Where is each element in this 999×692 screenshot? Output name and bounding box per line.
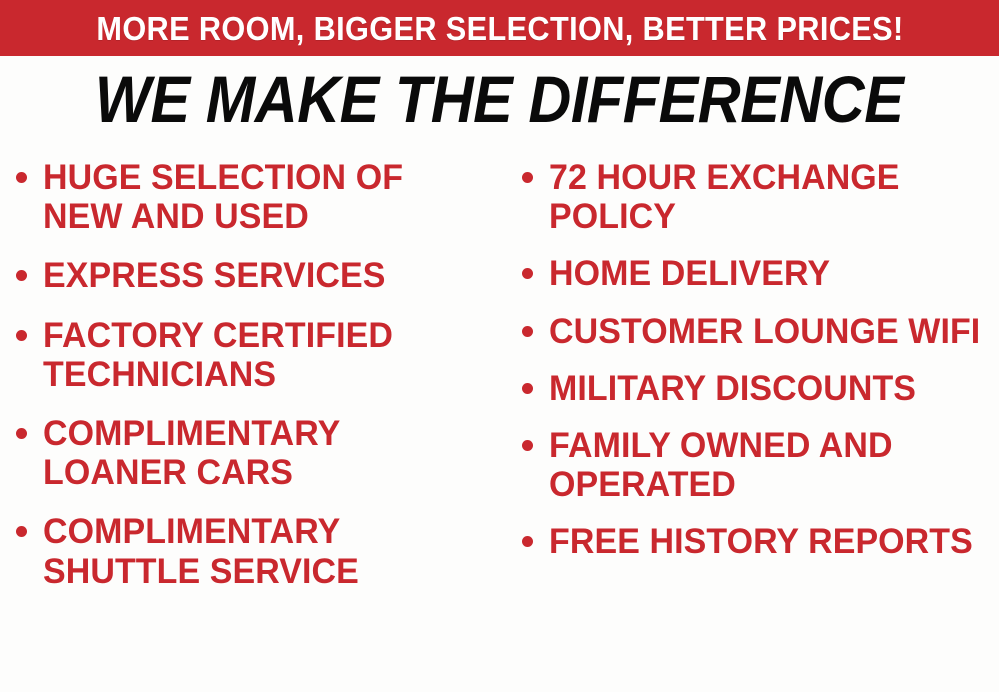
promo-strip: MORE ROOM, BIGGER SELECTION, BETTER PRIC… (0, 0, 999, 56)
round-bullet-icon (522, 172, 533, 183)
list-item-label: COMPLIMENTARY LOANER CARS (43, 414, 491, 492)
list-item: HUGE SELECTION OF NEW AND USED (16, 158, 505, 236)
advertisement-banner: MORE ROOM, BIGGER SELECTION, BETTER PRIC… (0, 0, 999, 692)
page-title: WE MAKE THE DIFFERENCE (95, 66, 904, 133)
list-item: FACTORY CERTIFIED TECHNICIANS (16, 316, 505, 394)
list-item: EXPRESS SERVICES (16, 256, 505, 295)
round-bullet-icon (522, 383, 533, 394)
list-item-label: CUSTOMER LOUNGE WIFI (549, 312, 986, 351)
list-item-label: HOME DELIVERY (549, 254, 986, 293)
benefit-list-right: 72 HOUR EXCHANGE POLICY HOME DELIVERY CU… (522, 158, 999, 562)
list-item-label: COMPLIMENTARY SHUTTLE SERVICE (43, 512, 491, 590)
benefits-columns: HUGE SELECTION OF NEW AND USED EXPRESS S… (0, 158, 999, 692)
round-bullet-icon (522, 440, 533, 451)
list-item-label: EXPRESS SERVICES (43, 256, 491, 295)
list-item-label: HUGE SELECTION OF NEW AND USED (43, 158, 491, 236)
list-item: CUSTOMER LOUNGE WIFI (522, 312, 999, 351)
list-item: MILITARY DISCOUNTS (522, 369, 999, 408)
round-bullet-icon (522, 268, 533, 279)
list-item: COMPLIMENTARY LOANER CARS (16, 414, 505, 492)
benefits-column-left: HUGE SELECTION OF NEW AND USED EXPRESS S… (0, 158, 505, 692)
list-item: COMPLIMENTARY SHUTTLE SERVICE (16, 512, 505, 590)
round-bullet-icon (16, 428, 27, 439)
benefit-list-left: HUGE SELECTION OF NEW AND USED EXPRESS S… (16, 158, 505, 591)
round-bullet-icon (522, 536, 533, 547)
list-item-label: MILITARY DISCOUNTS (549, 369, 986, 408)
round-bullet-icon (16, 270, 27, 281)
list-item: HOME DELIVERY (522, 254, 999, 293)
round-bullet-icon (16, 172, 27, 183)
list-item: 72 HOUR EXCHANGE POLICY (522, 158, 999, 236)
round-bullet-icon (16, 330, 27, 341)
headline-container: WE MAKE THE DIFFERENCE (0, 66, 999, 133)
list-item: FREE HISTORY REPORTS (522, 522, 999, 561)
list-item: FAMILY OWNED AND OPERATED (522, 426, 999, 504)
list-item-label: FREE HISTORY REPORTS (549, 522, 986, 561)
list-item-label: FACTORY CERTIFIED TECHNICIANS (43, 316, 491, 394)
benefits-column-right: 72 HOUR EXCHANGE POLICY HOME DELIVERY CU… (505, 158, 999, 692)
round-bullet-icon (522, 326, 533, 337)
list-item-label: 72 HOUR EXCHANGE POLICY (549, 158, 986, 236)
list-item-label: FAMILY OWNED AND OPERATED (549, 426, 986, 504)
promo-strip-text: MORE ROOM, BIGGER SELECTION, BETTER PRIC… (96, 12, 903, 45)
round-bullet-icon (16, 526, 27, 537)
